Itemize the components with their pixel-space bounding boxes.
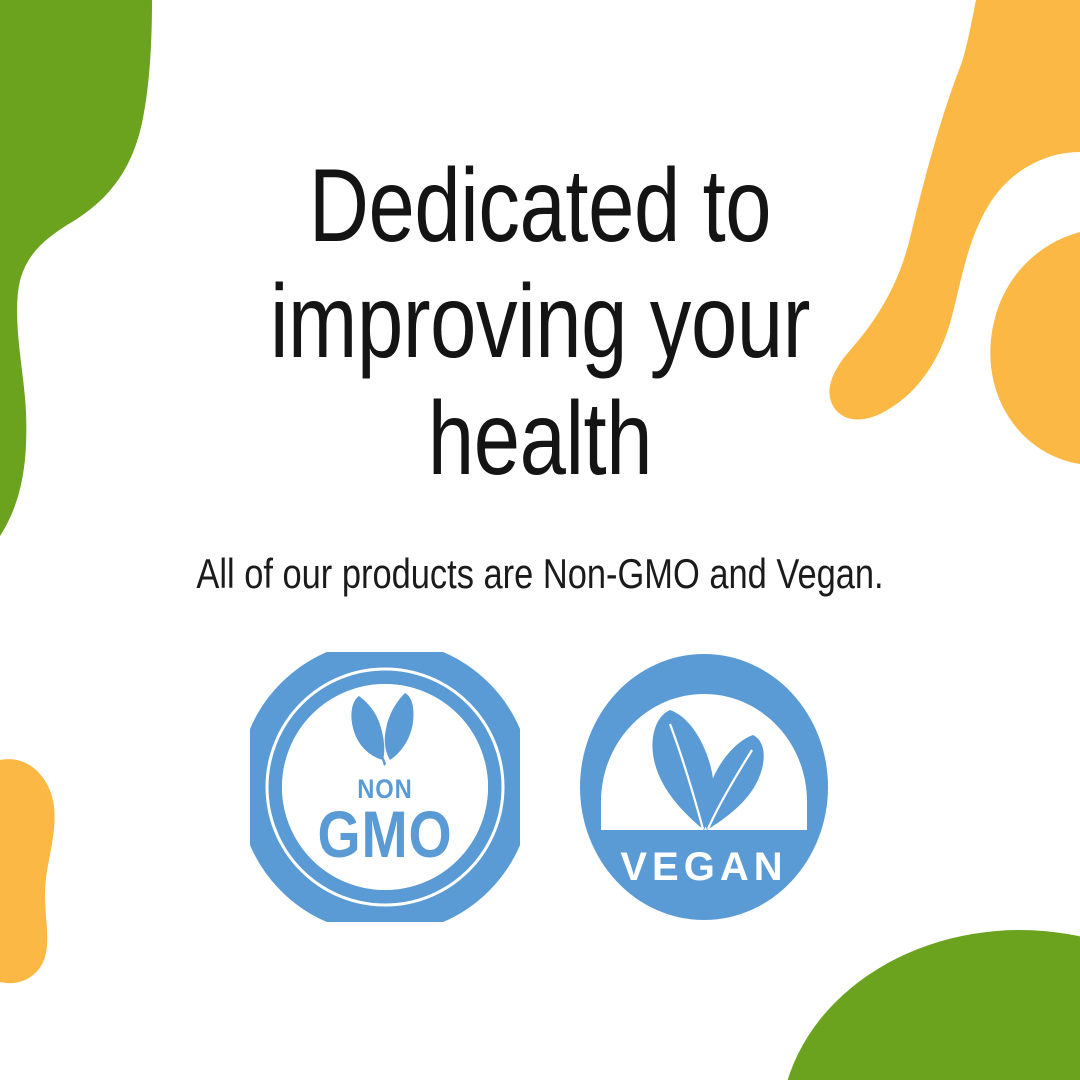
subtitle: All of our products are Non-GMO and Vega… bbox=[179, 549, 901, 599]
vegan-badge: VEGAN bbox=[578, 652, 830, 922]
certification-badges: NON GMO VEGAN bbox=[250, 652, 830, 922]
non-gmo-badge: NON GMO bbox=[250, 652, 520, 922]
vegan-label: VEGAN bbox=[620, 845, 787, 889]
promo-card: Dedicated to improving your health All o… bbox=[0, 0, 1080, 1080]
content-stack: Dedicated to improving your health All o… bbox=[0, 0, 1080, 1080]
page-title: Dedicated to improving your health bbox=[268, 148, 812, 497]
non-gmo-line-2: GMO bbox=[318, 797, 453, 871]
